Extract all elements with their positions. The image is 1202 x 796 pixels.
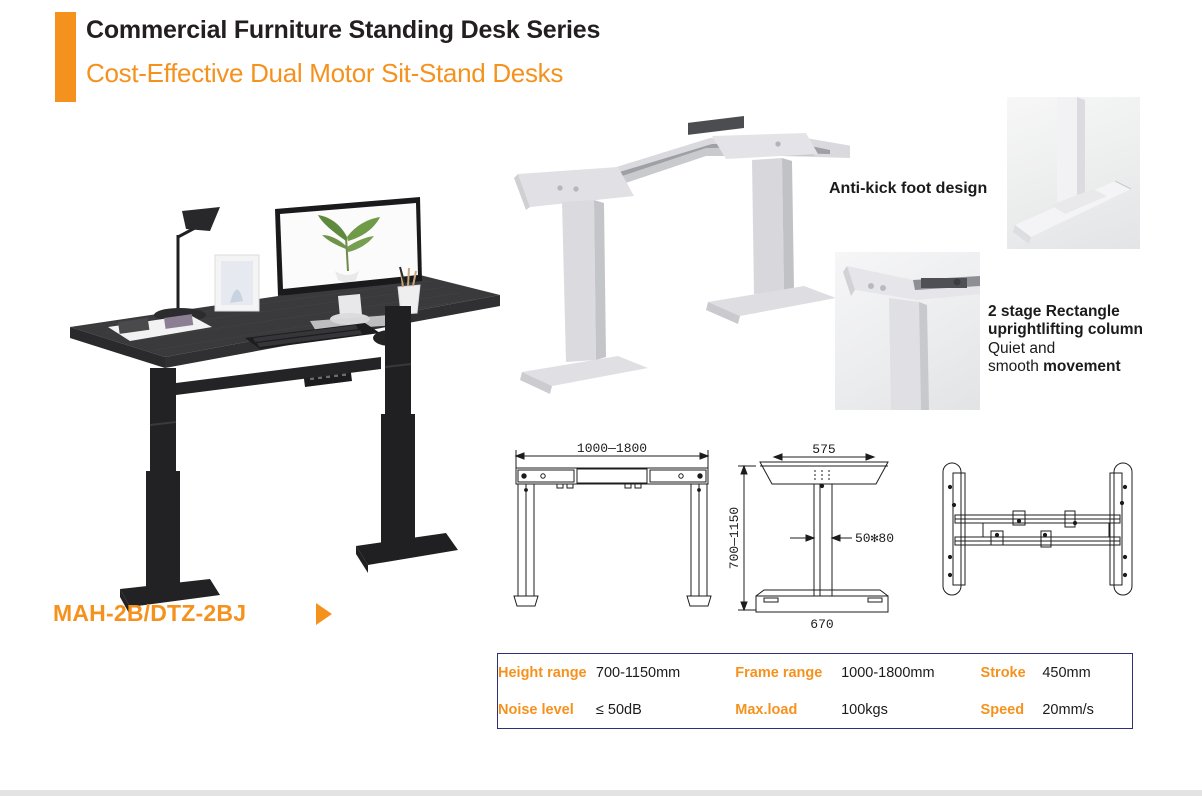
spec-value-frame-range: 1000-1800mm — [841, 654, 980, 691]
side-height-dimension: 700—1150 — [727, 507, 742, 569]
play-triangle-icon — [316, 603, 332, 625]
table-row: Height range 700-1150mm Frame range 1000… — [498, 654, 1132, 691]
inset-photo-anti-kick-foot — [1007, 97, 1140, 249]
hero-desk-photo — [60, 175, 530, 650]
inset-photo-lifting-column — [835, 252, 980, 410]
side-column-dimension: 50✻80 — [855, 531, 894, 546]
callout-column-line3: Quiet and — [988, 340, 1168, 358]
spec-label-max-load: Max.load — [735, 691, 841, 728]
callout-column-line4-bold: movement — [1043, 358, 1121, 375]
model-code-label: MAH-2B/DTZ-2BJ — [53, 600, 246, 627]
spec-label-frame-range: Frame range — [735, 654, 841, 691]
header-accent-bar — [55, 12, 76, 102]
front-width-dimension: 1000—1800 — [577, 441, 647, 456]
drawing-front-elevation: 1000—1800 — [485, 438, 720, 633]
side-top-dimension: 575 — [812, 442, 835, 457]
callout-anti-kick-foot: Anti-kick foot design — [829, 180, 987, 198]
drawing-top-plan — [925, 445, 1150, 630]
spec-value-noise-level: ≤ 50dB — [596, 691, 735, 728]
bottom-divider — [0, 790, 1202, 796]
callout-lifting-column: 2 stage Rectangle uprightlifting column … — [988, 303, 1168, 376]
table-row: Noise level ≤ 50dB Max.load 100kgs Speed… — [498, 691, 1132, 728]
callout-column-line4: smooth movement — [988, 358, 1168, 376]
callout-column-line4-regular: smooth — [988, 358, 1043, 375]
spec-label-speed: Speed — [981, 691, 1043, 728]
specification-table: Height range 700-1150mm Frame range 1000… — [497, 653, 1133, 729]
page-title: Commercial Furniture Standing Desk Serie… — [86, 16, 600, 45]
desk-frame-photo — [500, 110, 850, 410]
spec-value-speed: 20mm/s — [1042, 691, 1132, 728]
page-subtitle: Cost-Effective Dual Motor Sit-Stand Desk… — [86, 58, 563, 89]
callout-column-line1: 2 stage Rectangle — [988, 303, 1168, 321]
spec-value-stroke: 450mm — [1042, 654, 1132, 691]
spec-label-height-range: Height range — [498, 654, 596, 691]
drawing-side-elevation: 575 700—1150 50✻80 670 — [722, 438, 922, 633]
product-spec-sheet: Commercial Furniture Standing Desk Serie… — [0, 0, 1202, 796]
spec-value-max-load: 100kgs — [841, 691, 980, 728]
spec-label-noise-level: Noise level — [498, 691, 596, 728]
side-base-dimension: 670 — [810, 617, 833, 632]
spec-value-height-range: 700-1150mm — [596, 654, 735, 691]
callout-column-line2: uprightlifting column — [988, 321, 1168, 339]
spec-label-stroke: Stroke — [981, 654, 1043, 691]
